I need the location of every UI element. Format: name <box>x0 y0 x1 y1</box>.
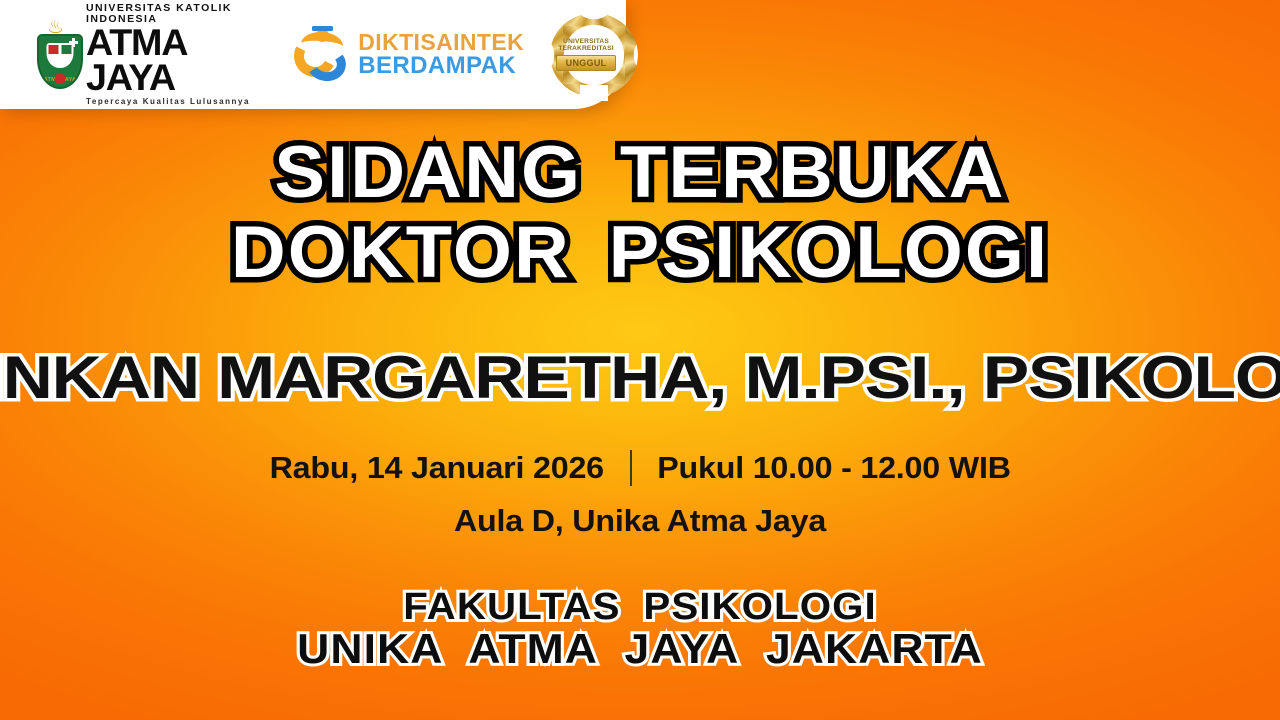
event-date: Rabu, 14 Januari 2026 <box>270 450 604 486</box>
heart-icon <box>55 73 66 84</box>
event-meta-row: Rabu, 14 Januari 2026 Pukul 10.00 - 12.0… <box>0 450 1280 486</box>
shield-body: ATMA JAYA <box>37 34 83 89</box>
seal-line2: TERAKREDITASI <box>558 45 613 52</box>
footer-line-2: UNIKA ATMA JAYA JAKARTA <box>0 627 1280 670</box>
atma-jaya-tagline: Tepercaya Kualitas Lulusannya <box>86 98 269 106</box>
wreath-gap <box>580 85 608 101</box>
atma-jaya-shield-icon: ♨ ATMA JAYA <box>34 19 77 91</box>
headline-line-1: SIDANG TERBUKA <box>0 133 1280 213</box>
cross-icon <box>69 38 78 47</box>
event-venue: Aula D, Unika Atma Jaya <box>0 503 1280 539</box>
accreditation-seal-icon: UNIVERSITAS TERAKREDITASI UNGGUL <box>546 11 626 99</box>
seal-content: UNIVERSITAS TERAKREDITASI UNGGUL <box>558 38 614 72</box>
diktisaintek-wordmark: DIKTISAINTEK BERDAMPAK <box>358 31 524 79</box>
graduation-cap-icon <box>312 26 333 31</box>
seal-line1: UNIVERSITAS <box>563 38 609 45</box>
headline-block: SIDANG TERBUKA DOKTOR PSIKOLOGI <box>0 133 1280 292</box>
event-time: Pukul 10.00 - 12.00 WIB <box>657 450 1011 486</box>
diktisaintek-line1: DIKTISAINTEK <box>358 31 524 54</box>
footer-block: FAKULTAS PSIKOLOGI UNIKA ATMA JAYA JAKAR… <box>0 588 1280 670</box>
atma-jaya-top-text: UNIVERSITAS KATOLIK INDONESIA <box>86 3 269 24</box>
logo-panel: ♨ ATMA JAYA UNIVERSITAS KATOLIK INDONESI… <box>0 0 626 109</box>
candidate-name: PINKAN MARGARETHA, M.PSI., PSIKOLOG <box>0 348 1280 408</box>
diktisaintek-line2: BERDAMPAK <box>358 54 524 78</box>
footer-line-1: FAKULTAS PSIKOLOGI <box>0 588 1280 627</box>
meta-divider <box>630 450 632 486</box>
atma-jaya-logo: ♨ ATMA JAYA UNIVERSITAS KATOLIK INDONESI… <box>34 3 269 105</box>
diktisaintek-figure-icon <box>293 26 349 84</box>
diktisaintek-logo: DIKTISAINTEK BERDAMPAK <box>293 26 524 84</box>
seal-ribbon-label: UNGGUL <box>556 55 617 71</box>
atma-jaya-wordmark: UNIVERSITAS KATOLIK INDONESIA ATMA JAYA … <box>86 3 269 105</box>
event-poster: ♨ ATMA JAYA UNIVERSITAS KATOLIK INDONESI… <box>0 0 1280 720</box>
headline-line-2: DOKTOR PSIKOLOGI <box>0 213 1280 293</box>
atma-jaya-name: ATMA JAYA <box>86 26 273 94</box>
